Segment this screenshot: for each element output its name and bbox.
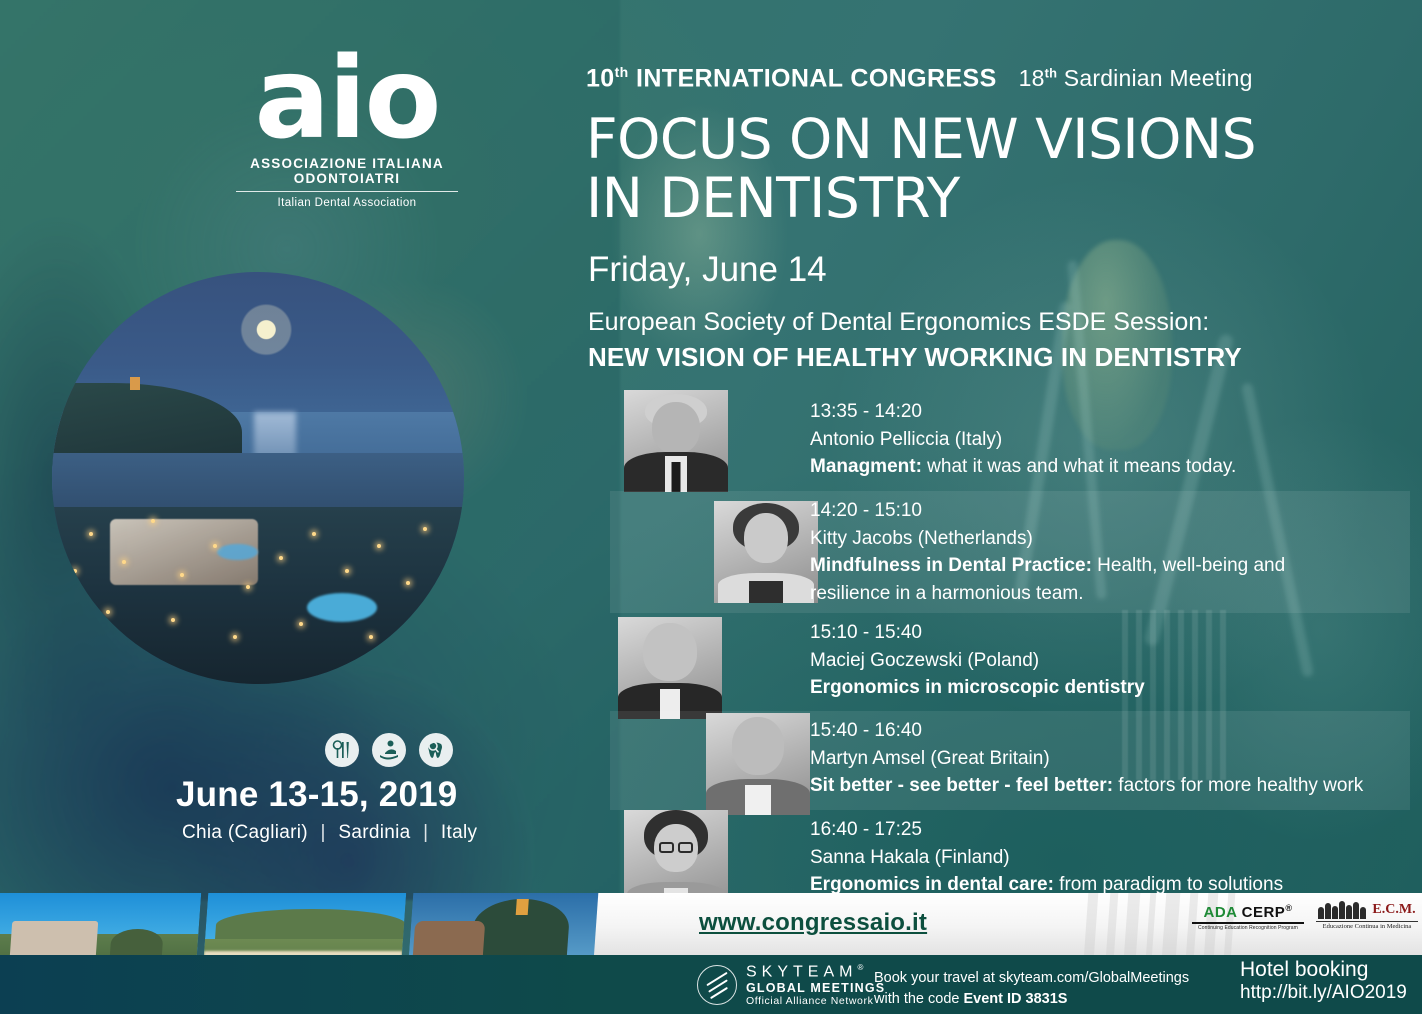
speaker-photo-cell [610, 392, 810, 491]
hotel-booking-link[interactable]: http://bit.ly/AIO2019 [1240, 982, 1407, 1003]
session-topic-bold: Ergonomics in microscopic dentistry [810, 677, 1145, 698]
session-topic: Mindfulness in Dental Practice: Health, … [810, 552, 1410, 580]
session-speaker: Maciej Goczewski (Poland) [810, 647, 1410, 675]
session-time: 13:35 - 14:20 [810, 398, 1410, 426]
sardinian-meeting: 18th Sardinian Meeting [1019, 65, 1253, 92]
speaker-photo-cell [610, 613, 810, 711]
photo-hills [215, 909, 406, 941]
event-country: Italy [441, 822, 477, 843]
session-topic-rest: what it was and what it means today. [922, 456, 1236, 477]
headshot-maciej-goczewski [618, 617, 722, 719]
ada-cerp-logo: ADA CERP® Continuing Education Recogniti… [1192, 903, 1304, 931]
skyteam-registered-mark: ® [857, 963, 863, 972]
photo-lights [52, 272, 464, 684]
face [732, 717, 784, 775]
session-topic: Sit better - see better - feel better: f… [810, 772, 1410, 800]
session-topic-rest: Health, well-being and [1092, 555, 1285, 576]
session-time: 14:20 - 15:10 [810, 497, 1410, 525]
session-speaker: Kitty Jacobs (Netherlands) [810, 525, 1410, 553]
hotel-booking-info: Hotel booking http://bit.ly/AIO2019 [1240, 958, 1407, 1004]
meeting-suffix: th [1045, 66, 1058, 81]
title-line-2: IN DENTISTRY [586, 169, 1256, 228]
travel-event-id: Event ID 3831S [963, 991, 1067, 1007]
ecm-subtitle: Educazione Continua in Medicina [1312, 923, 1422, 930]
location-separator-1: | [314, 822, 333, 843]
session-topic-line2: resilience in a harmonious team. [810, 580, 1410, 608]
speaker-photo-cell [610, 711, 810, 810]
photo-tower [516, 899, 529, 915]
skyteam-mark-icon [697, 965, 737, 1005]
skyteam-logo: SKYTEAM® GLOBAL MEETINGS Official Allian… [697, 963, 885, 1007]
dental-tools-icon [325, 733, 359, 767]
session-text: 14:20 - 15:10 Kitty Jacobs (Netherlands)… [810, 491, 1410, 613]
ada-subtitle: Continuing Education Recognition Program [1192, 925, 1304, 931]
session-text: 13:35 - 14:20 Antonio Pelliccia (Italy) … [810, 392, 1410, 491]
meeting-ordinal: 18 [1019, 65, 1045, 91]
session-time: 16:40 - 17:25 [810, 816, 1410, 844]
dentist-patient-icon [372, 733, 406, 767]
aio-association-name: ASSOCIAZIONE ITALIANA ODONTOIATRI [222, 156, 472, 186]
session-topic-bold: Ergonomics in dental care: [810, 874, 1054, 895]
session-schedule: 13:35 - 14:20 Antonio Pelliccia (Italy) … [610, 392, 1410, 910]
table-row: 13:35 - 14:20 Antonio Pelliccia (Italy) … [610, 392, 1410, 491]
event-region: Sardinia [338, 822, 410, 843]
aio-logo-mark: aio [222, 46, 472, 152]
aio-association-name-en: Italian Dental Association [222, 197, 472, 209]
session-text: 15:10 - 15:40 Maciej Goczewski (Poland) … [810, 613, 1410, 711]
session-speaker: Martyn Amsel (Great Britain) [810, 745, 1410, 773]
session-topic-bold: Managment: [810, 456, 922, 477]
speaker-photo-cell [610, 491, 810, 613]
edition-label: INTERNATIONAL CONGRESS [636, 64, 997, 92]
ada-text: ADA [1204, 904, 1237, 921]
session-topic-rest: factors for more healthy work [1113, 775, 1363, 796]
face [643, 623, 697, 681]
page-title: FOCUS ON NEW VISIONS IN DENTISTRY [586, 110, 1256, 228]
session-society: European Society of Dental Ergonomics ES… [588, 308, 1209, 337]
skyteam-line-3: Official Alliance Network [746, 995, 885, 1007]
cerp-text: CERP [1242, 904, 1286, 921]
footer-band-content: www.congressaio.it ADA CERP® Continuing … [594, 893, 1422, 955]
meeting-label: Sardinian Meeting [1064, 65, 1253, 91]
skyteam-line-1: SKYTEAM® [746, 963, 885, 981]
ada-divider [1192, 922, 1304, 924]
ecm-row: E.C.M. [1312, 901, 1422, 919]
congress-edition: 10th INTERNATIONAL CONGRESS [586, 64, 997, 93]
skyteam-name: SKYTEAM [746, 963, 857, 980]
headshot-antonio-pelliccia [624, 390, 728, 492]
session-day: Friday, June 14 [588, 250, 827, 290]
session-time: 15:10 - 15:40 [810, 619, 1410, 647]
congress-kicker: 10th INTERNATIONAL CONGRESS 18th Sardini… [586, 64, 1253, 93]
event-city: Chia (Cagliari) [182, 822, 308, 843]
travel-code-prefix: with the code [874, 991, 963, 1007]
headshot-martyn-amsel [706, 713, 810, 815]
ecm-logo: E.C.M. Educazione Continua in Medicina [1312, 901, 1422, 930]
top [749, 581, 783, 603]
congress-poster: aio ASSOCIAZIONE ITALIANA ODONTOIATRI It… [0, 0, 1422, 1014]
edition-suffix: th [615, 64, 629, 80]
ecm-people-icon [1318, 901, 1366, 919]
session-topic-rest: from paradigm to solutions [1054, 874, 1283, 895]
aio-logo-divider [236, 191, 458, 192]
session-text: 15:40 - 16:40 Martyn Amsel (Great Britai… [810, 711, 1410, 810]
tie [672, 462, 681, 492]
ada-cerp-wordmark: ADA CERP® [1192, 903, 1304, 921]
ada-registered-mark: ® [1285, 903, 1292, 913]
destination-circle-photo [52, 272, 464, 684]
edition-ordinal: 10 [586, 64, 615, 92]
location-separator-2: | [416, 822, 435, 843]
session-title: NEW VISION OF HEALTHY WORKING IN DENTIST… [588, 342, 1242, 373]
ecm-title: E.C.M. [1372, 902, 1415, 918]
travel-line-1: Book your travel at skyteam.com/GlobalMe… [874, 968, 1189, 989]
table-row: 14:20 - 15:10 Kitty Jacobs (Netherlands)… [610, 491, 1410, 613]
dental-icon-row [325, 733, 453, 767]
event-dates: June 13-15, 2019 [176, 775, 457, 815]
session-topic-bold: Mindfulness in Dental Practice: [810, 555, 1092, 576]
face [652, 402, 700, 454]
session-speaker: Antonio Pelliccia (Italy) [810, 426, 1410, 454]
hotel-booking-label: Hotel booking [1240, 958, 1407, 982]
session-topic: Ergonomics in microscopic dentistry [810, 674, 1410, 702]
session-time: 15:40 - 16:40 [810, 717, 1410, 745]
glasses-icon [659, 842, 693, 853]
session-topic-bold: Sit better - see better - feel better: [810, 775, 1113, 796]
face [744, 513, 788, 563]
table-row: 15:40 - 16:40 Martyn Amsel (Great Britai… [610, 711, 1410, 810]
session-speaker: Sanna Hakala (Finland) [810, 844, 1410, 872]
tooth-magnifier-icon [419, 733, 453, 767]
skyteam-line-2: GLOBAL MEETINGS [746, 981, 885, 995]
ecm-divider [1316, 921, 1418, 922]
title-line-1: FOCUS ON NEW VISIONS [586, 110, 1256, 169]
skyteam-wordmark: SKYTEAM® GLOBAL MEETINGS Official Allian… [746, 963, 885, 1007]
session-topic: Managment: what it was and what it means… [810, 453, 1410, 481]
table-row: 15:10 - 15:40 Maciej Goczewski (Poland) … [610, 613, 1410, 711]
website-link[interactable]: www.congressaio.it [699, 909, 927, 937]
travel-booking-info: Book your travel at skyteam.com/GlobalMe… [874, 968, 1189, 1010]
headshot-kitty-jacobs [714, 501, 818, 603]
travel-line-2: with the code Event ID 3831S [874, 989, 1189, 1010]
footer-left-block [0, 955, 600, 1014]
aio-logo: aio ASSOCIAZIONE ITALIANA ODONTOIATRI It… [222, 46, 472, 209]
event-location: Chia (Cagliari) | Sardinia | Italy [182, 822, 477, 844]
